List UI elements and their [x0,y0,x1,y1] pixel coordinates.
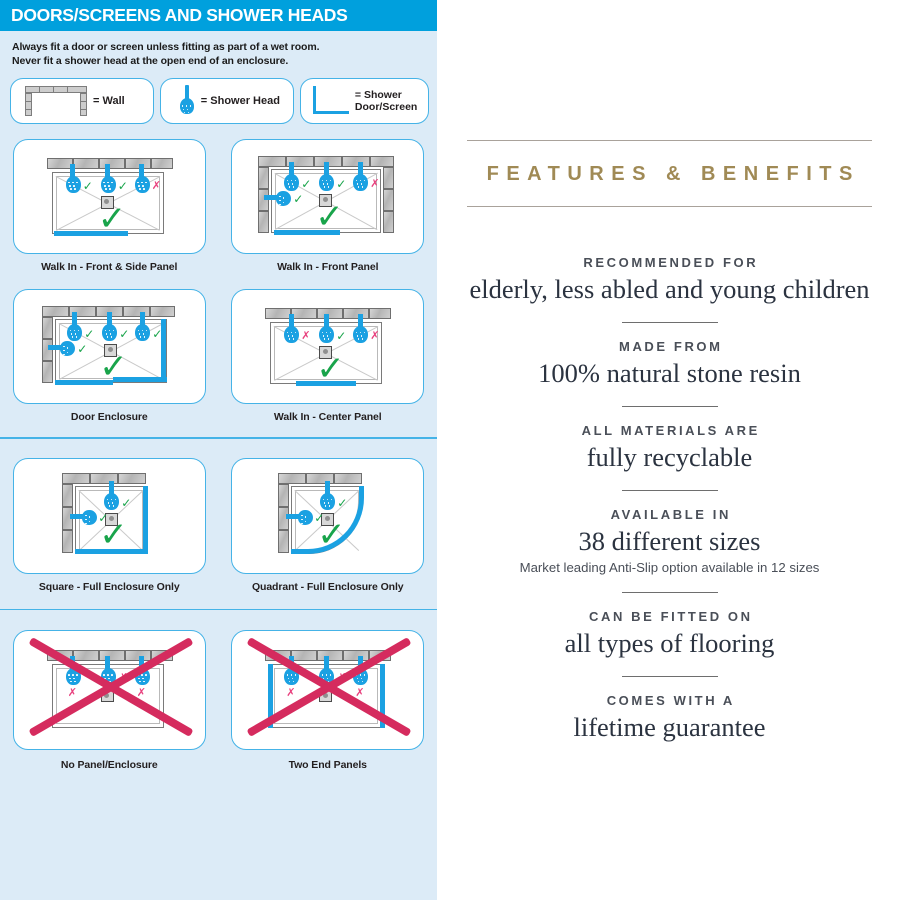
feature-label: MADE FROM [467,339,872,354]
feature-item: CAN BE FITTED ON all types of flooring [467,609,872,659]
shower-head-icon [353,314,368,344]
mark-cross: ✗ [137,687,146,698]
shower-head-icon [320,481,335,511]
feature-item: RECOMMENDED FOR elderly, less abled and … [467,255,872,305]
shower-head-icon [135,312,150,342]
feature-separator [622,490,718,491]
feature-subtext: Market leading Anti-Slip option availabl… [467,560,872,575]
diagram-caption-4: Square - Full Enclosure Only [39,581,180,593]
intro-text: Always fit a door or screen unless fitti… [0,31,437,72]
feature-value: lifetime guarantee [467,713,872,743]
mark-cross: ✗ [370,330,379,341]
diagram-cell-7: ✗ ✗ ✗ Two End [219,610,438,771]
feature-label: RECOMMENDED FOR [467,255,872,270]
legend-row: = Wall = Shower Head = S [0,72,437,134]
mark-cross: ✗ [370,178,379,189]
diagram-card-6[interactable]: ✗ ✗ ✗ [13,630,206,750]
diagram-caption-2: Door Enclosure [71,411,148,423]
features-benefits-title: FEATURES & BENEFITS [467,141,872,206]
shower-head-icon [70,509,98,526]
diagram-card-4[interactable]: ✓ ✓ ✓ [13,458,206,574]
diagram-cell-6: ✗ ✗ ✗ No Panel [0,610,219,771]
legend-label-shower-head: = Shower Head [201,95,280,108]
mark-cross: ✗ [301,330,310,341]
mark-cross: ✗ [286,687,295,698]
shower-head-icon [284,314,299,344]
feature-separator [622,322,718,323]
diagram-caption-7: Two End Panels [289,759,367,771]
shower-head-icon [104,481,119,511]
shower-head-icon [286,509,314,526]
legend-item-wall: = Wall [10,78,154,124]
feature-item: MADE FROM 100% natural stone resin [467,339,872,389]
mark-tick: ✓ [83,180,93,192]
mark-cross: ✗ [152,180,161,191]
diagram-card-2[interactable]: ✓ ✓ ✓ [13,289,206,404]
feature-item: ALL MATERIALS ARE fully recyclable [467,423,872,473]
diagram-cell-1: ✓ ✓ ✗ [219,134,438,273]
mark-cross: ✗ [68,687,77,698]
doors-screens-panel: DOORS/SCREENS AND SHOWER HEADS Always fi… [0,0,437,900]
diagram-cell-4: ✓ ✓ ✓ Square - Full Enclosure Only [0,439,219,593]
feature-value: all types of flooring [467,629,872,659]
diagram-cell-5: ✓ ✓ ✓ Quadrant - Full Enclosure Only [219,439,438,593]
shower-head-icon [353,162,368,192]
rule-bottom [467,206,872,207]
diagram-caption-3: Walk In - Center Panel [274,411,382,423]
mark-tick: ✓ [77,343,87,355]
diagram-card-3[interactable]: ✗ ✓ ✗ ✓ [231,289,424,404]
diagram-caption-6: No Panel/Enclosure [61,759,158,771]
diagram-card-1[interactable]: ✓ ✓ ✗ [231,139,424,254]
mark-tick: ✓ [119,328,129,340]
legend-item-shower-head: = Shower Head [160,78,294,124]
feature-separator [622,592,718,593]
mark-tick: ✓ [336,178,346,190]
page-root: DOORS/SCREENS AND SHOWER HEADS Always fi… [0,0,900,900]
diagram-cell-2: ✓ ✓ ✓ [0,273,219,423]
feature-value: 100% natural stone resin [467,359,872,389]
feature-label: CAN BE FITTED ON [467,609,872,624]
shower-head-icon [179,85,195,117]
feature-item: COMES WITH A lifetime guarantee [467,693,872,743]
legend-item-shower-door: = Shower Door/Screen [300,78,429,124]
mark-tick: ✓ [301,178,311,190]
intro-line-1: Always fit a door or screen unless fitti… [12,41,425,55]
mark-tick: ✓ [337,497,347,509]
panel-header-title: DOORS/SCREENS AND SHOWER HEADS [11,5,348,26]
mark-tick: ✓ [336,330,346,342]
legend-label-shower-door: = Shower Door/Screen [355,89,417,114]
shower-head-icon [67,312,82,342]
shower-head-icon [319,162,334,192]
diagram-card-7[interactable]: ✗ ✗ ✗ [231,630,424,750]
feature-separator [622,406,718,407]
mark-big-tick: ✓ [316,352,345,386]
wall-icon [25,86,87,116]
mark-tick: ✓ [118,180,128,192]
intro-line-2: Never fit a shower head at the open end … [12,55,425,69]
diagram-cell-3: ✗ ✓ ✗ ✓ Walk In - Center [219,273,438,423]
mark-big-tick: ✓ [315,200,344,234]
diagram-card-5[interactable]: ✓ ✓ ✓ [231,458,424,574]
feature-item: AVAILABLE IN 38 different sizes Market l… [467,507,872,575]
mark-tick: ✓ [152,328,162,340]
shower-door-icon [313,86,349,116]
shower-door-bar [143,486,148,554]
feature-label: ALL MATERIALS ARE [467,423,872,438]
shower-head-icon [102,312,117,342]
diagram-caption-1: Walk In - Front Panel [277,261,378,273]
shower-head-icon [284,162,299,192]
legend-label-shower-door-line1: = Shower [355,89,402,101]
feature-value: fully recyclable [467,443,872,473]
mark-tick: ✓ [84,328,94,340]
legend-label-shower-door-line2: Door/Screen [355,101,417,113]
mark-tick: ✓ [121,497,131,509]
diagram-caption-5: Quadrant - Full Enclosure Only [252,581,404,593]
feature-label: COMES WITH A [467,693,872,708]
diagram-grid: ✓ ✓ ✗ ✓ Walk In - Front [0,134,437,423]
mark-big-tick: ✓ [317,518,346,552]
features-benefits-panel: FEATURES & BENEFITS RECOMMENDED FOR elde… [437,0,900,900]
diagram-caption-0: Walk In - Front & Side Panel [41,261,177,273]
diagram-grid-3: ✗ ✗ ✗ No Panel [0,610,437,771]
feature-value: elderly, less abled and young children [467,275,872,305]
panel-header: DOORS/SCREENS AND SHOWER HEADS [0,0,437,31]
mark-tick: ✓ [293,193,303,205]
shower-head-icon [135,164,150,194]
mark-cross: ✗ [355,687,364,698]
shower-head-icon [319,314,334,344]
mark-big-tick: ✓ [98,202,127,236]
shower-head-icon [101,164,116,194]
mark-big-tick: ✓ [99,518,128,552]
legend-label-wall: = Wall [93,95,125,108]
features-benefits-block: FEATURES & BENEFITS RECOMMENDED FOR elde… [467,140,872,743]
diagram-cell-0: ✓ ✓ ✗ ✓ Walk In - Front [0,134,219,273]
feature-value: 38 different sizes [467,527,872,557]
shower-head-icon [48,340,76,357]
mark-big-tick: ✓ [99,350,128,384]
shower-head-icon [264,190,292,207]
diagram-grid-2: ✓ ✓ ✓ Square - Full Enclosure Only [0,439,437,593]
shower-head-icon [66,164,81,194]
diagram-card-0[interactable]: ✓ ✓ ✗ ✓ [13,139,206,254]
feature-label: AVAILABLE IN [467,507,872,522]
feature-separator [622,676,718,677]
